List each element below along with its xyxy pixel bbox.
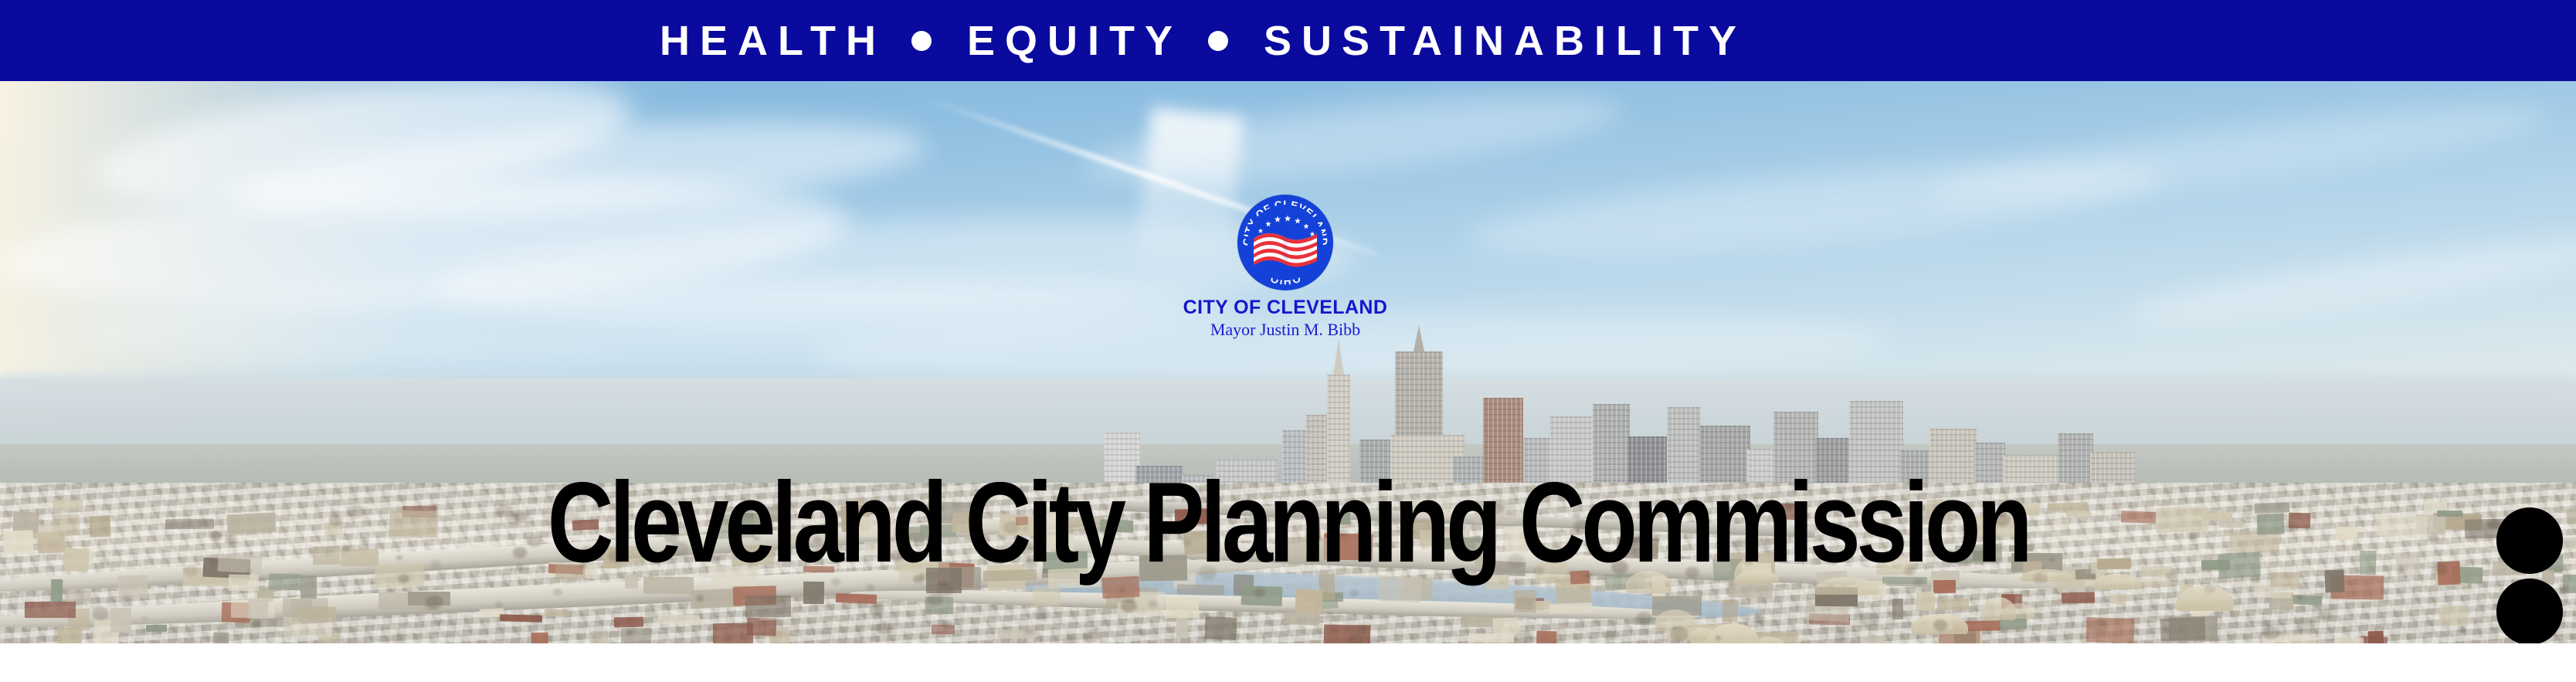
tree xyxy=(1350,590,1359,597)
hero-photo: CITY OF CLEVELAND OHIO xyxy=(0,81,2576,643)
bullet-icon xyxy=(911,31,932,51)
tree xyxy=(927,593,943,606)
tree xyxy=(2298,595,2303,599)
foreground-building xyxy=(2334,636,2364,643)
tree xyxy=(1515,631,1531,643)
foreground-building xyxy=(1722,600,1738,622)
foreground-building xyxy=(1492,617,1519,636)
tree xyxy=(553,589,562,595)
tree xyxy=(876,622,892,635)
foreground-building xyxy=(1166,597,1199,618)
foreground-building xyxy=(1937,598,1969,610)
tree xyxy=(1670,626,1688,641)
foreground-building xyxy=(1549,602,1592,613)
seal-inner-disc xyxy=(1247,205,1323,280)
foreground-building xyxy=(51,579,63,602)
foreground-building xyxy=(589,630,608,643)
tree xyxy=(1024,627,1034,635)
tagline-banner: HEALTH EQUITY SUSTAINABILITY xyxy=(0,0,2576,81)
foreground-building xyxy=(1295,589,1322,615)
foreground-building xyxy=(545,609,569,617)
youtube-icon[interactable] xyxy=(2496,507,2563,574)
foreground-building xyxy=(1533,601,1551,609)
organization-name: CITY OF CLEVELAND xyxy=(1139,297,1432,317)
footer-white-strip xyxy=(0,643,2576,682)
bullet-icon xyxy=(1208,31,1228,51)
tree xyxy=(1356,624,1368,634)
tree xyxy=(119,595,133,606)
seal-stars xyxy=(1258,215,1315,236)
foreground-building xyxy=(110,608,131,633)
mayor-name: Mayor Justin M. Bibb xyxy=(1139,320,1432,340)
tree xyxy=(767,595,776,602)
foreground-building xyxy=(146,625,167,632)
tree xyxy=(1033,608,1049,620)
tree xyxy=(1859,612,1877,627)
tree xyxy=(2459,626,2467,633)
city-of-cleveland-seal-icon: CITY OF CLEVELAND OHIO xyxy=(1237,195,1333,290)
tree xyxy=(2091,619,2107,633)
foreground-building xyxy=(2292,595,2322,605)
tree xyxy=(1148,600,1157,608)
tree xyxy=(1636,612,1653,625)
instagram-icon[interactable] xyxy=(2496,579,2563,643)
tree xyxy=(1349,633,1363,643)
foreground-building xyxy=(2439,606,2469,626)
tree xyxy=(2262,623,2271,629)
tagline-item-sustainability: SUSTAINABILITY xyxy=(1264,17,1746,65)
foreground-building xyxy=(1916,592,1935,610)
tree xyxy=(1745,616,1752,622)
foreground-building xyxy=(1204,616,1237,640)
tree xyxy=(1753,614,1764,623)
foreground-building xyxy=(1892,599,1903,619)
tagline-item-equity: EQUITY xyxy=(967,17,1183,65)
foreground-building xyxy=(1514,590,1536,612)
tree xyxy=(2204,583,2216,592)
foreground-building xyxy=(621,628,651,643)
foreground-building xyxy=(212,632,229,643)
tree xyxy=(1873,622,1878,626)
tagline-item-health: HEALTH xyxy=(660,17,886,65)
foreground-building xyxy=(657,615,699,625)
tree xyxy=(1716,636,1721,640)
foreground-building xyxy=(2160,617,2205,641)
tree xyxy=(645,609,658,619)
foreground-building xyxy=(248,599,269,619)
tree xyxy=(1084,630,1099,643)
tree xyxy=(869,604,883,616)
foreground-building xyxy=(290,598,328,623)
foreground-building xyxy=(2368,631,2384,643)
foreground-building xyxy=(25,602,76,618)
foreground-building xyxy=(747,618,777,636)
tree xyxy=(1119,588,1125,593)
tree xyxy=(1121,599,1137,612)
tree xyxy=(2319,609,2333,619)
seal-flag xyxy=(1254,233,1317,266)
tree xyxy=(696,595,704,601)
page-title: Cleveland City Planning Commission xyxy=(0,466,2576,580)
foreground-building xyxy=(836,593,877,603)
foreground-building xyxy=(614,617,643,628)
tree xyxy=(495,602,503,608)
foreground-building xyxy=(2110,593,2126,604)
foreground-building xyxy=(2062,592,2095,603)
tree xyxy=(1933,619,1948,631)
social-links xyxy=(2496,507,2563,643)
foreground-building xyxy=(66,589,91,602)
foreground-building xyxy=(531,632,549,643)
foreground-building xyxy=(1032,585,1061,606)
city-brand-lockup: CITY OF CLEVELAND OHIO xyxy=(1139,195,1432,357)
foreground-building xyxy=(1862,636,1885,643)
foreground-building xyxy=(56,627,82,643)
tagline-banner-inner: HEALTH EQUITY SUSTAINABILITY xyxy=(660,17,1746,65)
